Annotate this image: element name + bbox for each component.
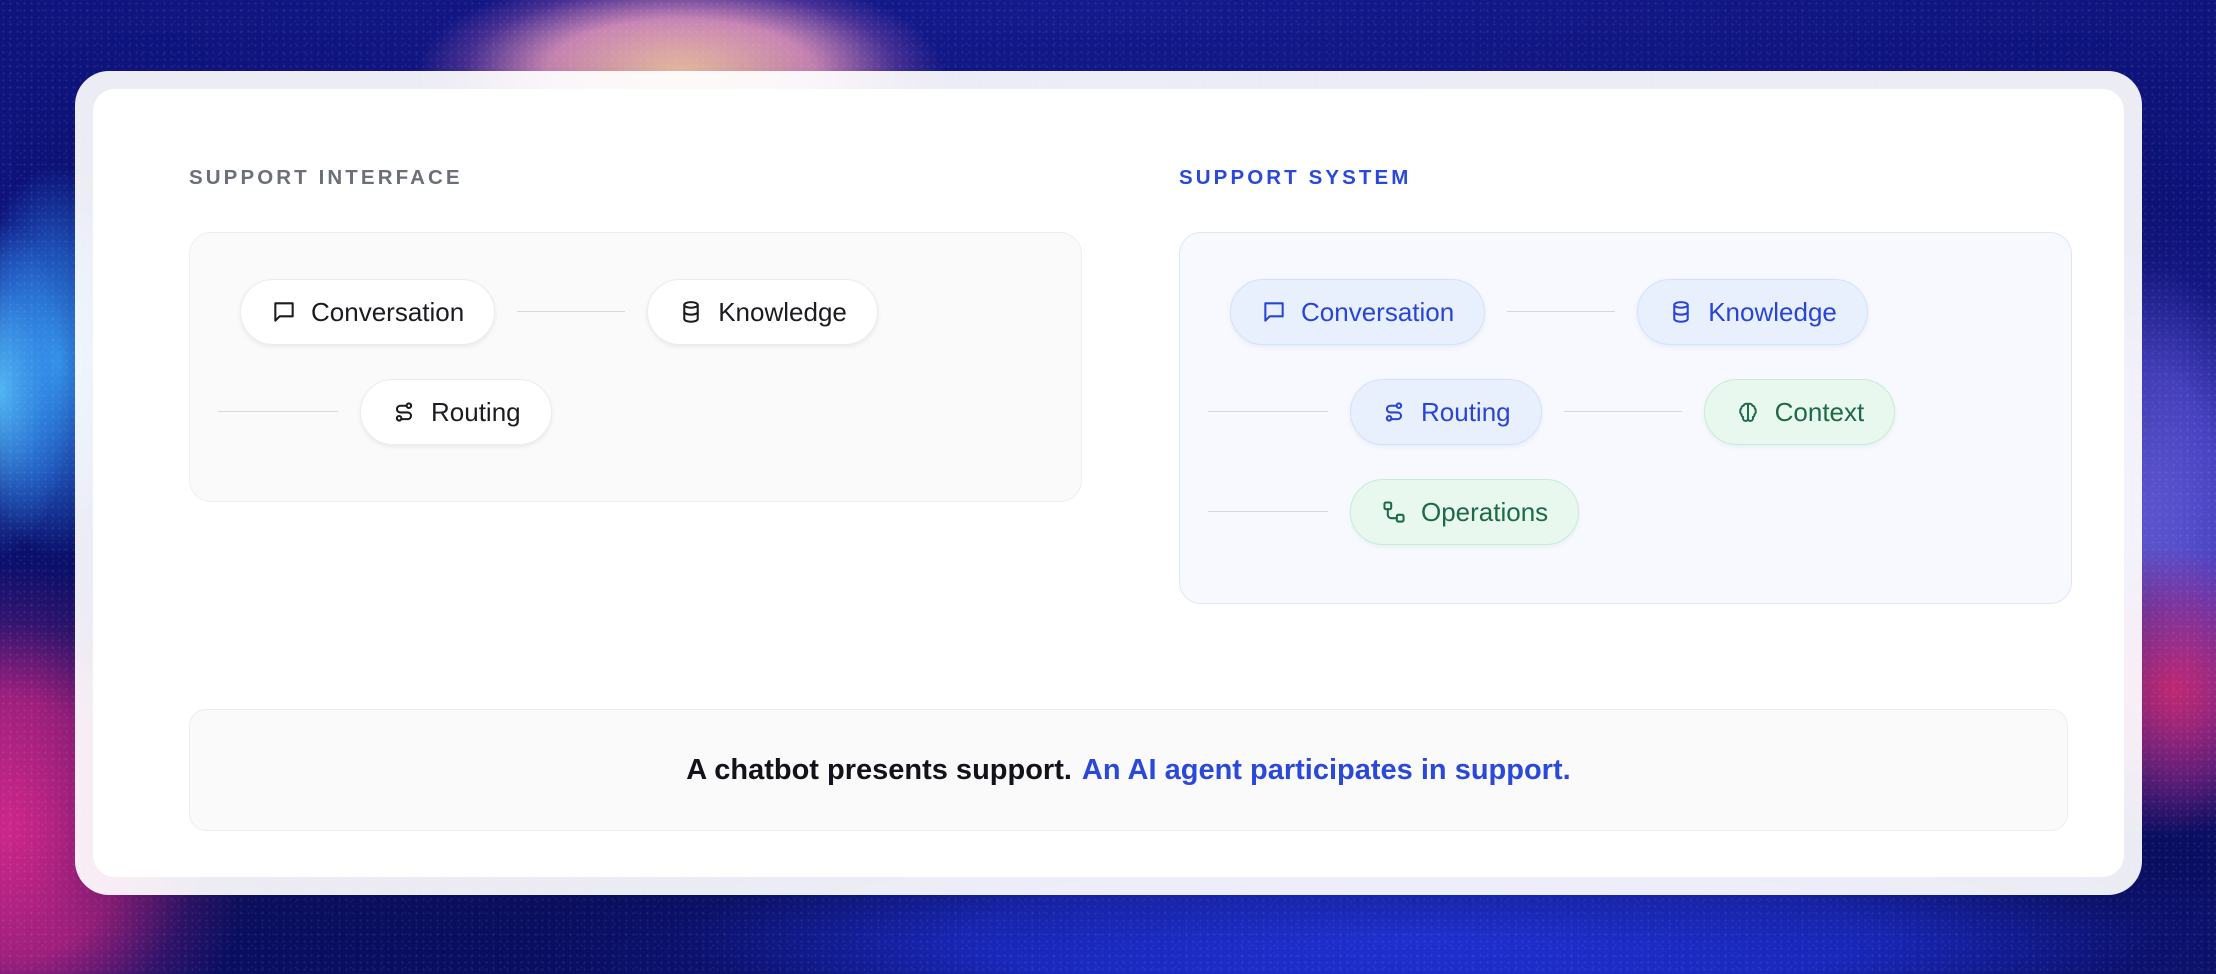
pill-conversation-system[interactable]: Conversation bbox=[1230, 279, 1485, 345]
pill-conversation-interface[interactable]: Conversation bbox=[240, 279, 495, 345]
connector-line bbox=[1564, 411, 1682, 412]
pill-knowledge-system[interactable]: Knowledge bbox=[1637, 279, 1868, 345]
pill-operations-system[interactable]: Operations bbox=[1350, 479, 1579, 545]
connector-line bbox=[1208, 411, 1328, 412]
database-icon bbox=[1668, 299, 1694, 325]
message-square-icon bbox=[271, 299, 297, 325]
pill-routing-interface[interactable]: Routing bbox=[360, 379, 552, 445]
message-square-icon bbox=[1261, 299, 1287, 325]
workflow-icon bbox=[1381, 499, 1407, 525]
content-card: SUPPORT INTERFACE Conversation bbox=[93, 89, 2124, 877]
pill-label: Conversation bbox=[1301, 299, 1454, 325]
caption-primary-text: A chatbot presents support. bbox=[686, 756, 1072, 785]
support-system-column: SUPPORT SYSTEM Conversation bbox=[1179, 89, 2079, 604]
pill-label: Operations bbox=[1421, 499, 1548, 525]
summary-caption-bar: A chatbot presents support. An AI agent … bbox=[189, 709, 2068, 831]
pill-knowledge-interface[interactable]: Knowledge bbox=[647, 279, 878, 345]
pill-routing-system[interactable]: Routing bbox=[1350, 379, 1542, 445]
system-row-3: Operations bbox=[1180, 477, 1579, 547]
support-interface-column: SUPPORT INTERFACE Conversation bbox=[189, 89, 1179, 604]
support-system-panel: Conversation bbox=[1179, 232, 2072, 604]
support-interface-panel: Conversation bbox=[189, 232, 1082, 502]
interface-row-1: Conversation bbox=[240, 277, 878, 347]
connector-line bbox=[1208, 511, 1328, 512]
pill-label: Context bbox=[1775, 399, 1865, 425]
system-row-1: Conversation bbox=[1230, 277, 1868, 347]
pill-label: Routing bbox=[431, 399, 521, 425]
brain-icon bbox=[1735, 399, 1761, 425]
caption-highlight-text: An AI agent participates in support. bbox=[1072, 756, 1571, 785]
connector-line bbox=[1507, 311, 1615, 312]
pill-label: Routing bbox=[1421, 399, 1511, 425]
page-backdrop: SUPPORT INTERFACE Conversation bbox=[0, 0, 2216, 974]
support-interface-kicker: SUPPORT INTERFACE bbox=[189, 89, 1179, 189]
pill-label: Knowledge bbox=[718, 299, 847, 325]
connector-line bbox=[218, 411, 338, 412]
pill-label: Knowledge bbox=[1708, 299, 1837, 325]
route-icon bbox=[1381, 399, 1407, 425]
content-card-frame: SUPPORT INTERFACE Conversation bbox=[75, 71, 2142, 895]
interface-row-2: Routing bbox=[190, 377, 552, 447]
pill-label: Conversation bbox=[311, 299, 464, 325]
comparison-columns: SUPPORT INTERFACE Conversation bbox=[93, 89, 2124, 604]
database-icon bbox=[678, 299, 704, 325]
support-system-kicker: SUPPORT SYSTEM bbox=[1179, 89, 2079, 189]
connector-line bbox=[517, 311, 625, 312]
pill-context-system[interactable]: Context bbox=[1704, 379, 1896, 445]
system-row-2: Routing bbox=[1180, 377, 1895, 447]
route-icon bbox=[391, 399, 417, 425]
